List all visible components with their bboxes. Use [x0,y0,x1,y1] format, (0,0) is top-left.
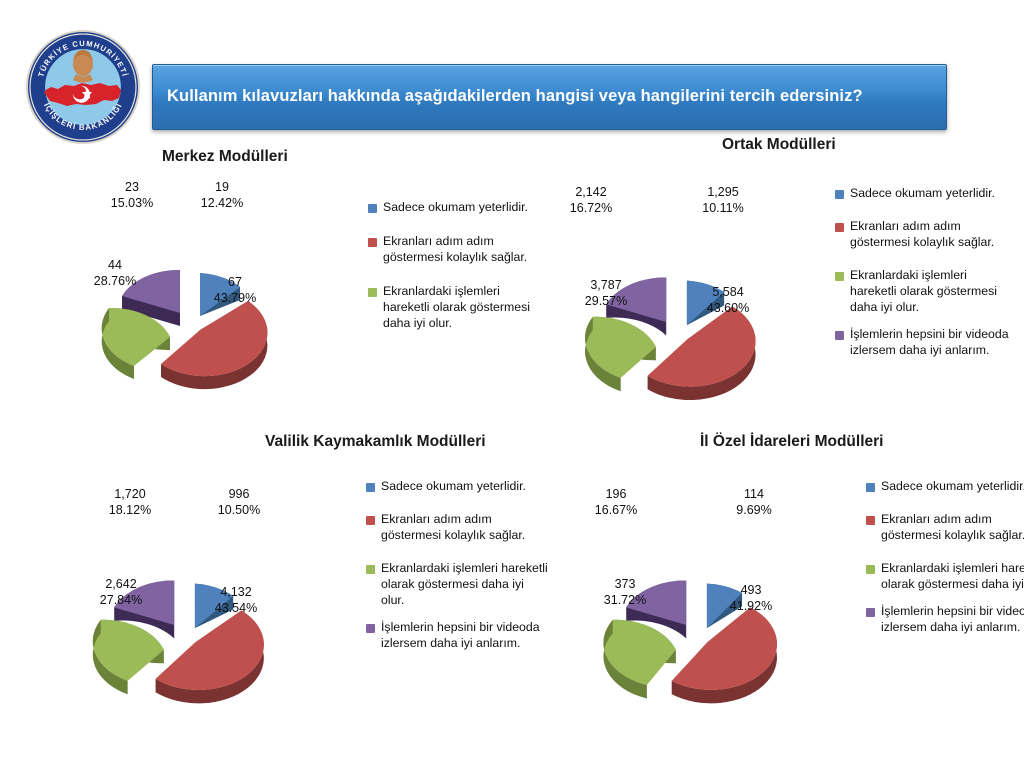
slide-canvas: TÜRKİYE CUMHURİYETİ İÇİŞLERİ BAKANLIĞI K… [0,0,1024,768]
page-title: Kullanım kılavuzları hakkında aşağıdakil… [153,86,877,108]
legend-item[interactable]: İşlemlerin hepsini bir videoda izlersem … [835,327,1015,359]
pie-value: 493 [741,583,762,597]
pie-label-ilozel-blue: 114 9.69% [722,487,786,518]
legend-swatch-green-icon [368,288,377,297]
pie-label-merkez-blue: 19 12.42% [192,180,252,211]
legend-swatch-purple-icon [866,608,875,617]
pie-percent: 10.11% [702,201,743,215]
pie-value: 1,295 [707,185,738,199]
pie-value: 23 [125,180,139,194]
chart-title-merkez: Merkez Modülleri [162,148,288,166]
pie-percent: 28.76% [94,274,136,288]
legend-swatch-blue-icon [835,190,844,199]
pie-chart-ilozel [560,525,860,725]
pie-label-valilik-green: 2,642 27.84% [84,577,158,608]
legend-item[interactable]: Ekranları adım adım göstermesi kolaylık … [866,512,1024,544]
legend-swatch-blue-icon [368,204,377,213]
pie-value: 1,720 [114,487,145,501]
legend-swatch-blue-icon [366,483,375,492]
legend-swatch-blue-icon [866,483,875,492]
pie-label-ilozel-purple: 196 16.67% [584,487,648,518]
pie-value: 19 [215,180,229,194]
legend-swatch-purple-icon [366,624,375,633]
pie-value: 4,132 [220,585,251,599]
chart-legend-ortak: Sadece okumam yeterlidir. Ekranları adım… [835,186,1015,370]
pie-chart-merkez [58,218,348,408]
pie-label-merkez-purple: 23 15.03% [102,180,162,211]
pie-percent: 43.79% [214,291,256,305]
pie-slice-red [672,607,777,703]
chart-title-valilik: Valilik Kaymakamlık Modülleri [265,433,486,451]
pie-value: 5,584 [712,285,743,299]
pie-percent: 10.50% [218,503,260,517]
pie-value: 2,642 [105,577,136,591]
legend-label: İşlemlerin hepsini bir videoda izlersem … [850,327,1015,359]
chart-title-ortak: Ortak Modülleri [722,136,836,154]
pie-label-ilozel-red: 493 41.92% [716,583,786,614]
pie-label-valilik-blue: 996 10.50% [206,487,272,518]
legend-item[interactable]: Sadece okumam yeterlidir. [835,186,1015,202]
pie-value: 44 [108,258,122,272]
pie-percent: 27.84% [100,593,142,607]
legend-label: Ekranları adım adım göstermesi kolaylık … [881,512,1024,544]
pie-slice-green [585,317,656,392]
pie-label-valilik-purple: 1,720 18.12% [95,487,165,518]
legend-item[interactable]: İşlemlerin hepsini bir videoda izlersem … [866,604,1024,636]
legend-swatch-green-icon [366,565,375,574]
legend-label: Ekranlardaki işlemleri hareketli olarak … [881,561,1024,593]
pie-chart-ortak [540,222,840,422]
pie-percent: 43.60% [707,301,749,315]
pie-value: 196 [606,487,627,501]
pie-chart-valilik [48,525,348,725]
chart-valilik-kaymakamlik-modulleri: Valilik Kaymakamlık Modülleri 1,720 18.1… [0,425,560,725]
pie-percent: 12.42% [201,196,243,210]
pie-label-ortak-blue: 1,295 10.11% [688,185,758,216]
pie-label-merkez-green: 44 28.76% [84,258,146,289]
chart-legend-ilozel: Sadece okumam yeterlidir. Ekranları adım… [866,479,1024,647]
pie-label-ortak-purple: 2,142 16.72% [556,185,626,216]
pie-label-merkez-red: 67 43.79% [202,275,268,306]
pie-percent: 41.92% [730,599,772,613]
legend-label: Sadece okumam yeterlidir. [850,186,995,202]
pie-slice-green [93,620,164,695]
pie-label-ilozel-green: 373 31.72% [592,577,658,608]
legend-label: İşlemlerin hepsini bir videoda izlersem … [881,604,1024,636]
slide-title-banner: Kullanım kılavuzları hakkında aşağıdakil… [152,64,947,130]
legend-swatch-green-icon [835,272,844,281]
legend-item[interactable]: Ekranlardaki işlemleri hareketli olarak … [835,268,1015,316]
legend-item[interactable]: Sadece okumam yeterlidir. [866,479,1024,495]
chart-ortak-modulleri: Ortak Modülleri 2,142 16.72% 1,295 10.11… [490,130,1024,430]
pie-percent: 15.03% [111,196,153,210]
pie-value: 114 [744,487,764,501]
legend-swatch-red-icon [866,516,875,525]
legend-swatch-green-icon [866,565,875,574]
pie-label-ortak-red: 5,584 43.60% [690,285,766,316]
pie-slice-green [603,620,675,699]
chart-il-ozel-idareleri-modulleri: İl Özel İdareleri Modülleri 196 16.67% 1… [500,425,1024,725]
legend-item[interactable]: Ekranları adım adım göstermesi kolaylık … [835,219,1015,251]
pie-value: 67 [228,275,242,289]
ministry-emblem-icon: TÜRKİYE CUMHURİYETİ İÇİŞLERİ BAKANLIĞI [24,28,142,146]
pie-percent: 43.54% [215,601,257,615]
legend-label: Ekranlardaki işlemleri hareketli olarak … [850,268,1015,316]
pie-label-valilik-red: 4,132 43.54% [196,585,276,616]
pie-value: 996 [229,487,250,501]
pie-percent: 16.67% [595,503,637,517]
legend-swatch-red-icon [835,223,844,232]
legend-swatch-purple-icon [835,331,844,340]
pie-value: 3,787 [590,278,621,292]
pie-label-ortak-green: 3,787 29.57% [570,278,642,309]
pie-percent: 29.57% [585,294,627,308]
legend-item[interactable]: Ekranlardaki işlemleri hareketli olarak … [866,561,1024,593]
legend-swatch-red-icon [366,516,375,525]
pie-percent: 18.12% [109,503,151,517]
chart-title-ilozel: İl Özel İdareleri Modülleri [700,433,883,451]
chart-merkez-modulleri: Merkez Modülleri 23 15.03% 19 12.42% [0,140,560,400]
pie-value: 373 [615,577,636,591]
pie-percent: 31.72% [604,593,646,607]
legend-swatch-red-icon [368,238,377,247]
pie-value: 2,142 [575,185,606,199]
legend-label: Ekranları adım adım göstermesi kolaylık … [850,219,1015,251]
pie-percent: 9.69% [736,503,771,517]
pie-percent: 16.72% [570,201,612,215]
legend-label: Sadece okumam yeterlidir. [881,479,1024,495]
